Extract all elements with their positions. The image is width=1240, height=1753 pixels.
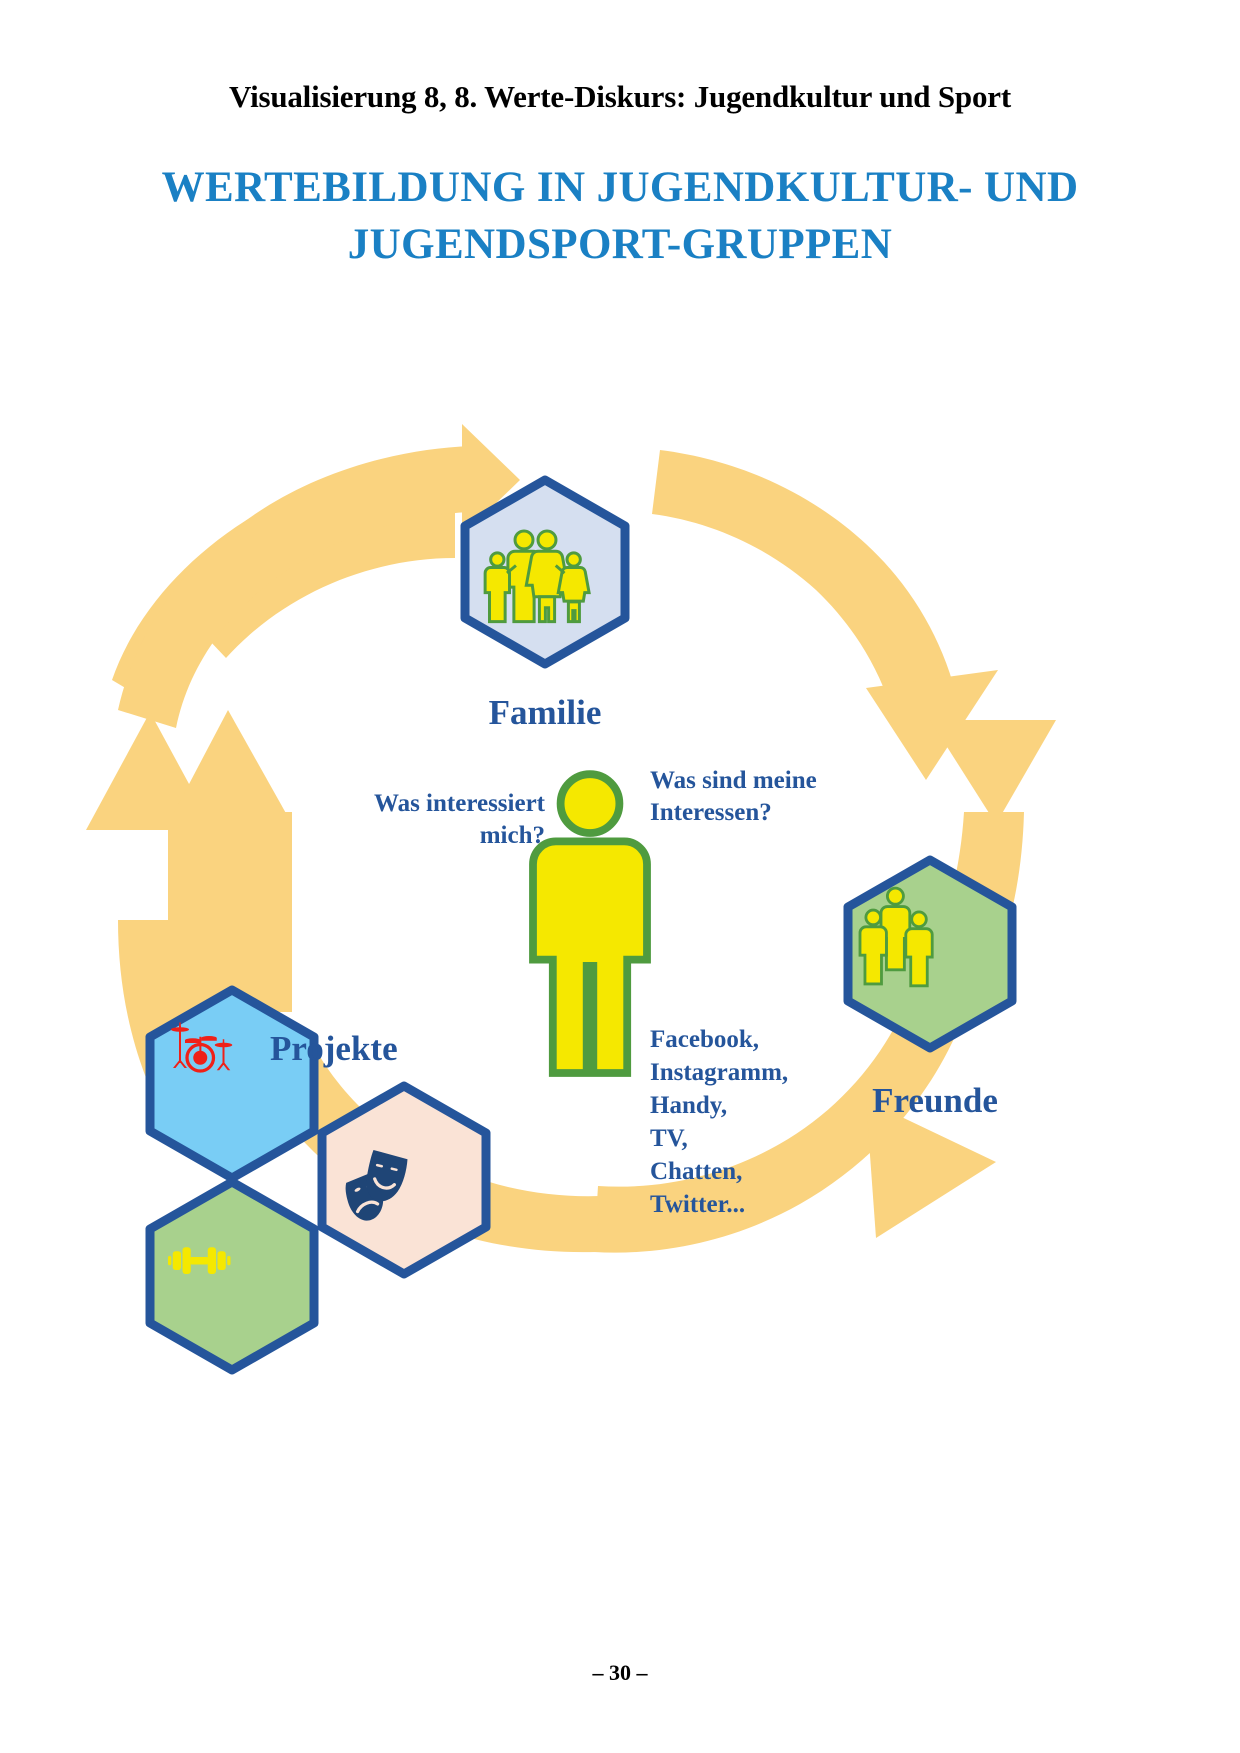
node-freunde[interactable] (848, 860, 1012, 1048)
question-right-text: Was sind meine Interessen? (650, 765, 900, 829)
node-sport[interactable] (150, 1182, 314, 1370)
question-left-text: Was interessiert mich? (330, 788, 545, 852)
media-item: Twitter... (650, 1188, 910, 1221)
node-label-familie: Familie (395, 692, 695, 733)
hexagon-projekte (322, 1086, 486, 1274)
page-header: Visualisierung 8, 8. Werte-Diskurs: Juge… (0, 78, 1240, 115)
cycle-diagram: Familie Freunde Projekte Was interessier… (0, 420, 1240, 1420)
media-item: Facebook, (650, 1023, 910, 1056)
arrow-left-shaft (168, 812, 292, 1012)
page-title: WERTEBILDUNG IN JUGENDKULTUR- UND JUGEND… (95, 160, 1145, 274)
media-item: Instagramm, (650, 1056, 910, 1089)
media-item: Handy, (650, 1089, 910, 1122)
page-footer: – 30 – (0, 1660, 1240, 1686)
hexagon-musik (150, 990, 314, 1178)
running-head: Visualisierung 8, 8. Werte-Diskurs: Juge… (0, 78, 1240, 115)
node-projekte[interactable] (322, 1086, 486, 1274)
arrowhead-left-up-2 (168, 710, 292, 824)
diagram-canvas (0, 420, 1240, 1420)
node-label-projekte: Projekte (270, 1028, 560, 1069)
media-item: TV, (650, 1122, 910, 1155)
node-familie[interactable] (465, 480, 625, 664)
node-musik[interactable] (150, 990, 314, 1178)
media-item: Chatten, (650, 1155, 910, 1188)
media-list: Facebook,Instagramm,Handy,TV,Chatten,Twi… (650, 1023, 910, 1221)
hexagon-sport (150, 1182, 314, 1370)
arrowhead-right-upper (930, 720, 1056, 824)
